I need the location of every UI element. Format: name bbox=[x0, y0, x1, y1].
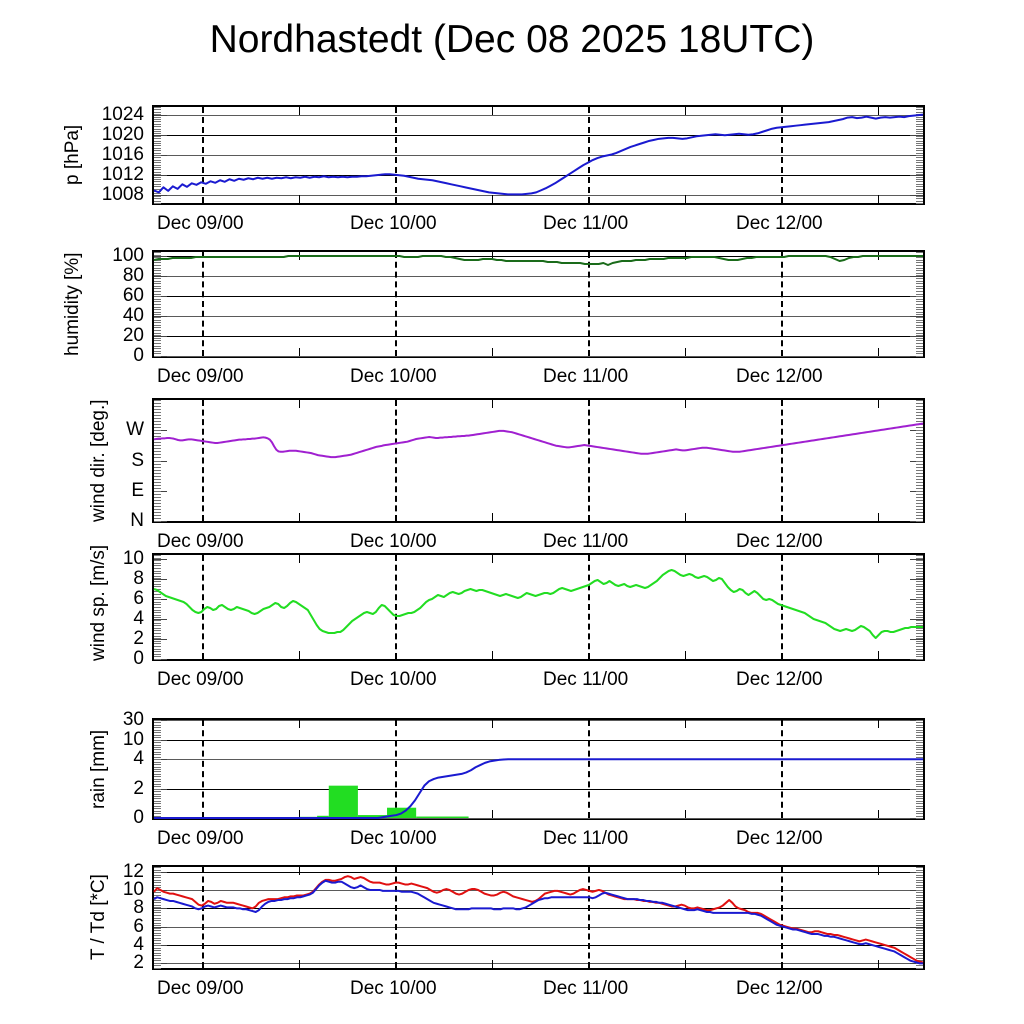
y-axis-label-pressure: p [hPa] bbox=[62, 105, 84, 205]
y-tick-label-pressure: 1020 bbox=[84, 124, 144, 146]
y-tick-label-pressure: 1008 bbox=[84, 184, 144, 206]
x-tick-label: Dec 12/00 bbox=[736, 213, 823, 235]
series-windspeed bbox=[154, 555, 923, 659]
y-tick-label-humidity: 60 bbox=[84, 285, 144, 307]
x-tick-label: Dec 09/00 bbox=[157, 366, 244, 388]
series-winddir bbox=[154, 400, 923, 521]
y-axis-label-temperature: T / Td [*C] bbox=[88, 865, 110, 970]
y-minor-tick bbox=[154, 659, 161, 660]
y-minor-tick bbox=[916, 521, 923, 522]
y-minor-tick bbox=[916, 968, 923, 969]
y-tick-label-humidity: 40 bbox=[84, 305, 144, 327]
y-tick-label-humidity: 80 bbox=[84, 265, 144, 287]
y-axis-label-windspeed: wind sp. [m/s] bbox=[88, 553, 110, 661]
x-tick-label: Dec 09/00 bbox=[157, 828, 244, 850]
y-minor-tick bbox=[154, 968, 161, 969]
x-tick-label: Dec 09/00 bbox=[157, 978, 244, 1000]
x-tick-label: Dec 11/00 bbox=[543, 366, 628, 388]
series-rain bbox=[154, 720, 923, 818]
x-tick-label: Dec 10/00 bbox=[350, 366, 437, 388]
x-tick-label: Dec 09/00 bbox=[157, 213, 244, 235]
x-tick-label: Dec 12/00 bbox=[736, 978, 823, 1000]
page-title: Nordhastedt (Dec 08 2025 18UTC) bbox=[0, 18, 1024, 62]
x-tick-label: Dec 09/00 bbox=[157, 531, 244, 553]
x-tick-label: Dec 11/00 bbox=[543, 828, 628, 850]
y-tick-label-humidity: 100 bbox=[84, 245, 144, 267]
x-tick-label: Dec 09/00 bbox=[157, 669, 244, 691]
rain-bar bbox=[329, 786, 358, 818]
y-minor-tick bbox=[916, 356, 923, 357]
plot-area-winddir bbox=[152, 398, 925, 523]
y-tick-label-pressure: 1024 bbox=[84, 104, 144, 126]
x-tick-label: Dec 10/00 bbox=[350, 978, 437, 1000]
y-minor-tick bbox=[154, 356, 161, 357]
y-tick-label-humidity: 20 bbox=[84, 325, 144, 347]
x-tick-label: Dec 10/00 bbox=[350, 213, 437, 235]
rain-bar bbox=[416, 817, 468, 818]
x-tick-label: Dec 10/00 bbox=[350, 828, 437, 850]
plot-area-rain bbox=[152, 718, 925, 820]
x-tick-label: Dec 11/00 bbox=[543, 669, 628, 691]
y-minor-tick bbox=[916, 659, 923, 660]
y-minor-tick bbox=[154, 521, 161, 522]
x-tick-label: Dec 11/00 bbox=[543, 531, 628, 553]
x-tick-label: Dec 12/00 bbox=[736, 531, 823, 553]
y-tick-label-pressure: 1012 bbox=[84, 164, 144, 186]
y-minor-tick bbox=[916, 818, 923, 819]
series-temperature bbox=[154, 867, 923, 968]
y-minor-tick bbox=[916, 203, 923, 204]
y-axis-label-winddir: wind dir. [deg.] bbox=[88, 398, 110, 523]
y-minor-tick bbox=[154, 203, 161, 204]
y-tick-label-pressure: 1016 bbox=[84, 144, 144, 166]
plot-area-temperature bbox=[152, 865, 925, 970]
plot-area-pressure bbox=[152, 105, 925, 205]
x-tick-label: Dec 10/00 bbox=[350, 531, 437, 553]
plot-area-windspeed bbox=[152, 553, 925, 661]
x-tick-label: Dec 12/00 bbox=[736, 366, 823, 388]
x-tick-label: Dec 12/00 bbox=[736, 828, 823, 850]
x-tick-label: Dec 11/00 bbox=[543, 213, 628, 235]
x-tick-label: Dec 11/00 bbox=[543, 978, 628, 1000]
gridline bbox=[154, 356, 923, 357]
x-tick-label: Dec 12/00 bbox=[736, 669, 823, 691]
plot-area-humidity bbox=[152, 250, 925, 358]
x-tick-label: Dec 10/00 bbox=[350, 669, 437, 691]
series-humidity bbox=[154, 252, 923, 356]
y-axis-label-rain: rain [mm] bbox=[88, 718, 110, 820]
series-pressure bbox=[154, 107, 923, 203]
y-axis-label-humidity: humidity [%] bbox=[62, 250, 84, 358]
y-tick-label-humidity: 0 bbox=[84, 345, 144, 367]
